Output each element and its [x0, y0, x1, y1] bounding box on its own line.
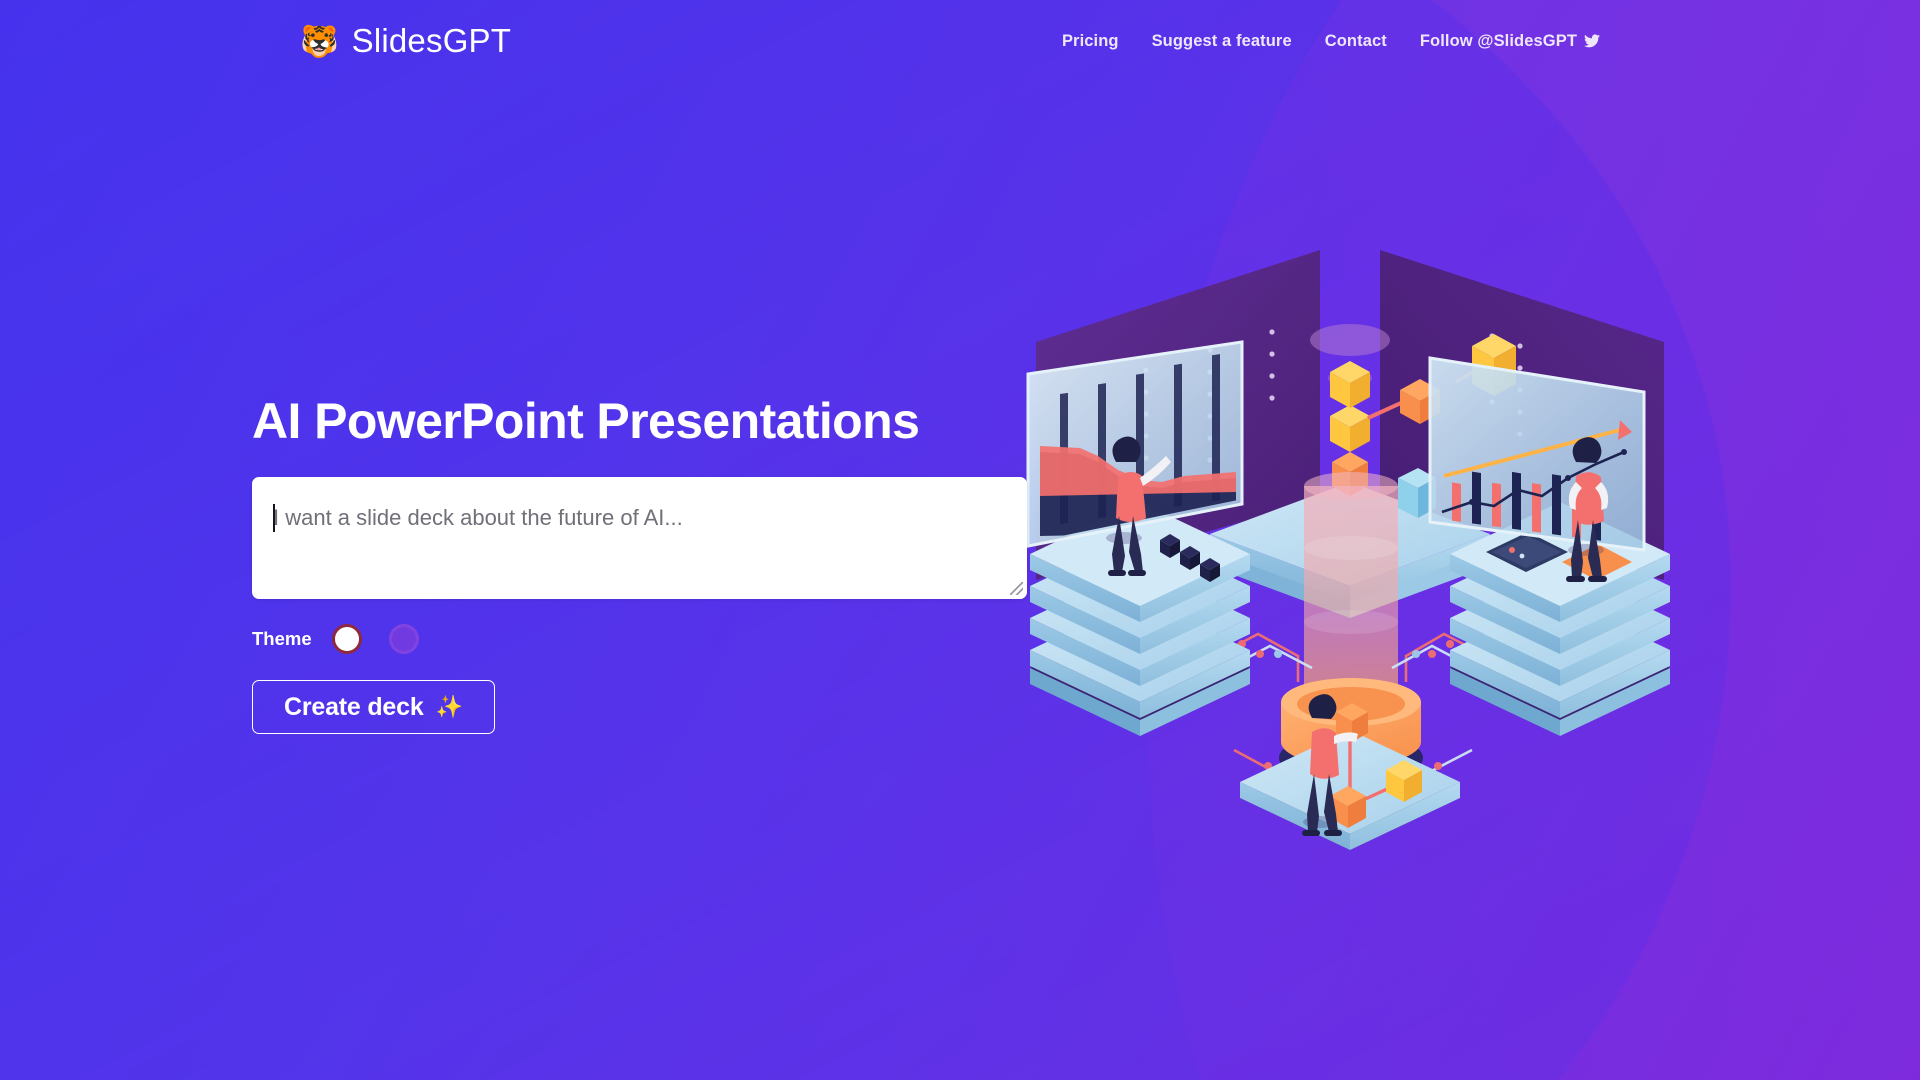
- text-caret: [273, 504, 275, 532]
- tiger-face-emoji: 🐯: [300, 26, 339, 57]
- create-deck-button[interactable]: Create deck ✨: [252, 680, 495, 734]
- brand-name: SlidesGPT: [352, 22, 512, 60]
- cube-yellow-top: [1330, 361, 1370, 408]
- prompt-textarea[interactable]: [252, 477, 1027, 599]
- nav-link-contact[interactable]: Contact: [1325, 32, 1387, 51]
- theme-swatch-group: [332, 624, 419, 654]
- nav-link-follow-twitter[interactable]: Follow @SlidesGPT: [1420, 32, 1600, 51]
- nav-link-pricing[interactable]: Pricing: [1062, 32, 1119, 51]
- site-header: 🐯 SlidesGPT Pricing Suggest a feature Co…: [0, 0, 1920, 82]
- cube-yellow-mid: [1330, 405, 1370, 452]
- theme-swatch-white[interactable]: [332, 624, 362, 654]
- hero-illustration: [1020, 250, 1680, 890]
- twitter-bird-icon: [1584, 34, 1600, 48]
- glow-ellipse-large: [1310, 324, 1390, 356]
- prompt-input-wrapper: [252, 477, 1027, 599]
- create-deck-label: Create deck: [284, 693, 424, 722]
- hero-section: AI PowerPoint Presentations Theme Create…: [252, 392, 1042, 734]
- page-title: AI PowerPoint Presentations: [252, 392, 1042, 450]
- sparkles-emoji: ✨: [436, 696, 463, 718]
- nav-twitter-label: Follow @SlidesGPT: [1420, 32, 1577, 51]
- main-navigation: Pricing Suggest a feature Contact Follow…: [1062, 32, 1858, 51]
- theme-label: Theme: [252, 628, 312, 650]
- theme-selector-row: Theme: [252, 620, 1042, 658]
- platform-bottom: [1240, 703, 1460, 850]
- nav-link-suggest-a-feature[interactable]: Suggest a feature: [1152, 32, 1292, 51]
- theme-swatch-purple[interactable]: [389, 624, 419, 654]
- brand-logo-link[interactable]: 🐯 SlidesGPT: [300, 22, 511, 60]
